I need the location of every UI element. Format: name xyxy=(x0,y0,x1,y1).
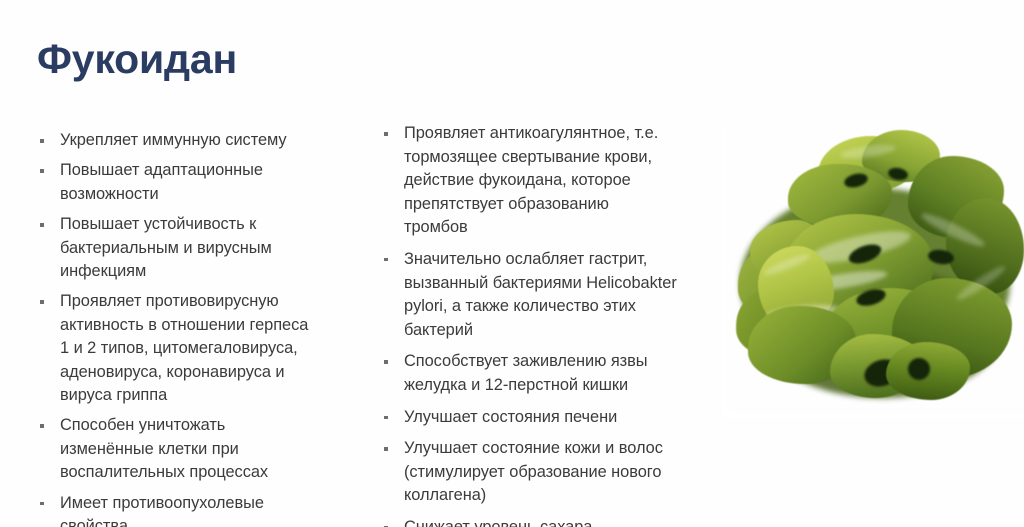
photo-edge-mask-bottom xyxy=(722,406,1024,418)
bullet-column-right: Проявляет антикоагулянтное, т.е. тормозя… xyxy=(380,122,720,527)
list-item-text: Снижает уровень сахара и холестерина в к… xyxy=(404,516,720,527)
bullet-square-icon xyxy=(40,139,44,143)
list-item-text: Проявляет антикоагулянтное, т.е. тормозя… xyxy=(404,122,720,240)
bullet-square-icon xyxy=(384,258,388,262)
list-item-text: Способен уничтожать изменённые клетки пр… xyxy=(60,414,352,484)
page-title: Фукоидан xyxy=(37,36,237,83)
bullet-column-left: Укрепляет иммунную систему Повышает адап… xyxy=(36,129,352,527)
list-item-text: Укрепляет иммунную систему xyxy=(60,129,352,152)
list-item: Улучшает состояния печени xyxy=(380,406,720,430)
seaweed-kelp-photo xyxy=(722,128,1024,418)
list-item-text: Улучшает состояние кожи и волос (стимули… xyxy=(404,437,720,508)
list-item: Повышает адаптационные возможности xyxy=(36,159,352,206)
list-item-text: Способствует заживлению язвы желудка и 1… xyxy=(404,350,720,397)
list-item: Снижает уровень сахара и холестерина в к… xyxy=(380,516,720,527)
list-item-text: Улучшает состояния печени xyxy=(404,406,720,430)
bullet-list-left: Укрепляет иммунную систему Повышает адап… xyxy=(36,129,352,527)
bullet-square-icon xyxy=(40,502,44,506)
bullet-square-icon xyxy=(384,360,388,364)
list-item: Улучшает состояние кожи и волос (стимули… xyxy=(380,437,720,508)
slide-root: Фукоидан Укрепляет иммунную систему Повы… xyxy=(0,0,1024,527)
list-item: Проявляет антикоагулянтное, т.е. тормозя… xyxy=(380,122,720,240)
photo-edge-mask-left xyxy=(722,128,738,418)
list-item: Повышает устойчивость к бактериальным и … xyxy=(36,213,352,283)
bullet-square-icon xyxy=(384,132,388,136)
list-item-text: Значительно ослабляет гастрит, вызванный… xyxy=(404,248,720,342)
bullet-square-icon xyxy=(40,300,44,304)
bullet-square-icon xyxy=(384,416,388,420)
bullet-square-icon xyxy=(40,424,44,428)
bullet-square-icon xyxy=(384,447,388,451)
bullet-list-right: Проявляет антикоагулянтное, т.е. тормозя… xyxy=(380,122,720,527)
list-item: Способен уничтожать изменённые клетки пр… xyxy=(36,414,352,484)
list-item: Значительно ослабляет гастрит, вызванный… xyxy=(380,248,720,342)
list-item: Способствует заживлению язвы желудка и 1… xyxy=(380,350,720,397)
list-item: Проявляет противовирусную активность в о… xyxy=(36,290,352,407)
list-item: Укрепляет иммунную систему xyxy=(36,129,352,152)
list-item-text: Повышает устойчивость к бактериальным и … xyxy=(60,213,352,283)
list-item-text: Повышает адаптационные возможности xyxy=(60,159,352,206)
list-item-text: Имеет противоопухолевые свойства xyxy=(60,492,352,527)
bullet-square-icon xyxy=(40,223,44,227)
list-item-text: Проявляет противовирусную активность в о… xyxy=(60,290,352,407)
bullet-square-icon xyxy=(40,169,44,173)
list-item: Имеет противоопухолевые свойства xyxy=(36,492,352,527)
